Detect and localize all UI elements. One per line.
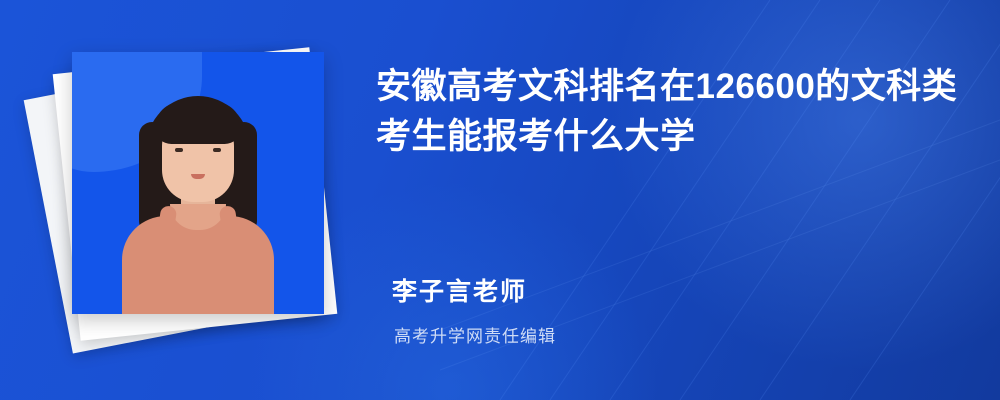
photo-card-stack — [44, 40, 364, 370]
author-name: 李子言老师 — [392, 272, 556, 308]
headline-block: 安徽高考文科排名在126600的文科类考生能报考什么大学 — [376, 62, 968, 161]
portrait-illustration — [103, 82, 293, 314]
author-block: 李子言老师 高考升学网责任编辑 — [392, 272, 556, 347]
dress-shape — [122, 216, 274, 314]
glow-decoration-top-right — [600, 0, 1000, 380]
eye-left-shape — [175, 148, 183, 152]
eye-right-shape — [213, 148, 221, 152]
author-role: 高考升学网责任编辑 — [392, 322, 556, 347]
hair-fringe-shape — [155, 102, 241, 144]
article-header-banner: 安徽高考文科排名在126600的文科类考生能报考什么大学 李子言老师 高考升学网… — [0, 0, 1000, 400]
teacher-portrait-photo — [72, 52, 324, 314]
page-title: 安徽高考文科排名在126600的文科类考生能报考什么大学 — [376, 62, 968, 161]
